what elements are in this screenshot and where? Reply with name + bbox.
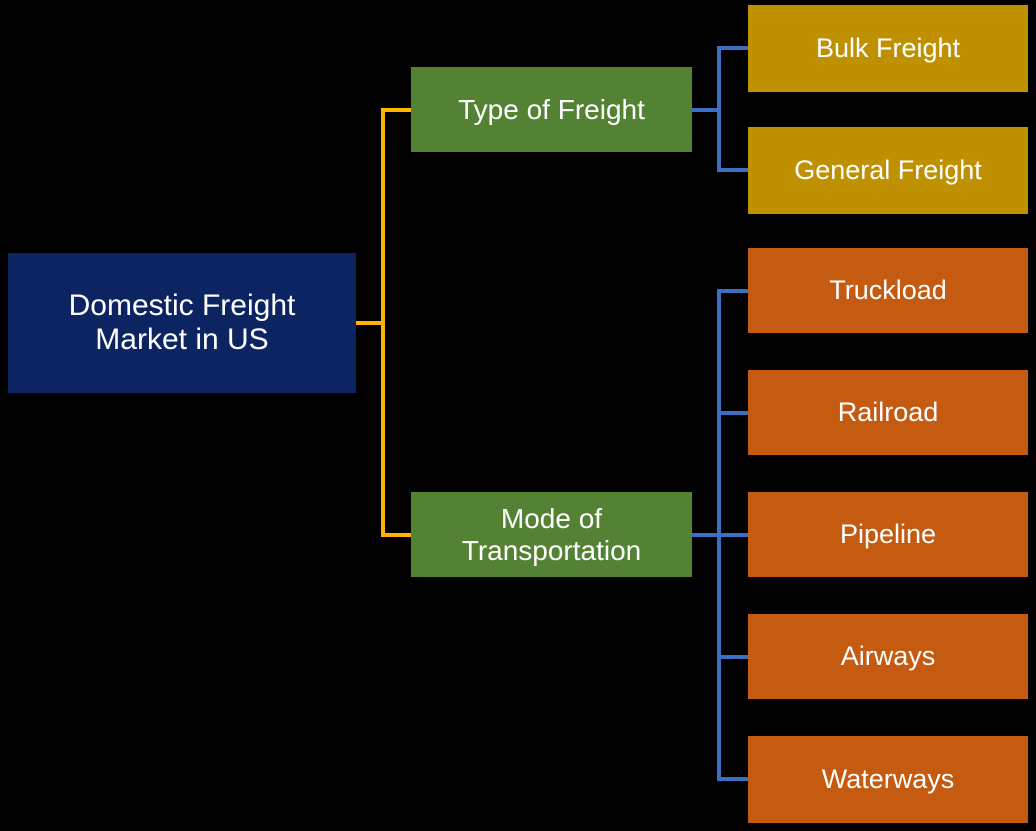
node-leaf-pipeline-label: Pipeline [840,519,936,549]
connector-root-to-mode-of-transportation [381,533,413,537]
connector-to-truckload [717,289,750,293]
connector-root-trunk [381,108,385,537]
connector-root-to-type-of-freight [381,108,413,112]
node-root-domestic-freight-market[interactable]: Domestic Freight Market in US [8,253,356,393]
node-leaf-bulk-freight-label: Bulk Freight [816,33,960,63]
node-root-label: Domestic Freight Market in US [69,289,296,356]
node-leaf-waterways[interactable]: Waterways [748,736,1028,823]
connector-to-airways [717,655,750,659]
node-leaf-truckload[interactable]: Truckload [748,248,1028,333]
node-leaf-general-freight[interactable]: General Freight [748,127,1028,214]
node-leaf-railroad[interactable]: Railroad [748,370,1028,455]
node-branch-mode-of-transportation[interactable]: Mode of Transportation [411,492,692,577]
node-leaf-airways[interactable]: Airways [748,614,1028,699]
connector-to-bulk-freight [717,46,750,50]
node-branch-mode-of-transportation-label: Mode of Transportation [462,503,642,566]
node-leaf-airways-label: Airways [841,641,936,671]
node-leaf-truckload-label: Truckload [829,275,947,305]
node-leaf-pipeline[interactable]: Pipeline [748,492,1028,577]
node-branch-type-of-freight-label: Type of Freight [458,94,645,125]
connector-type-of-freight-trunk [717,46,721,172]
node-leaf-bulk-freight[interactable]: Bulk Freight [748,5,1028,92]
connector-to-general-freight [717,168,750,172]
node-leaf-railroad-label: Railroad [838,397,939,427]
diagram-canvas: Domestic Freight Market in US Type of Fr… [0,0,1036,831]
node-leaf-waterways-label: Waterways [822,764,955,794]
connector-to-pipeline [717,533,750,537]
connector-to-waterways [717,777,750,781]
node-leaf-general-freight-label: General Freight [794,155,982,185]
node-branch-type-of-freight[interactable]: Type of Freight [411,67,692,152]
connector-to-railroad [717,411,750,415]
